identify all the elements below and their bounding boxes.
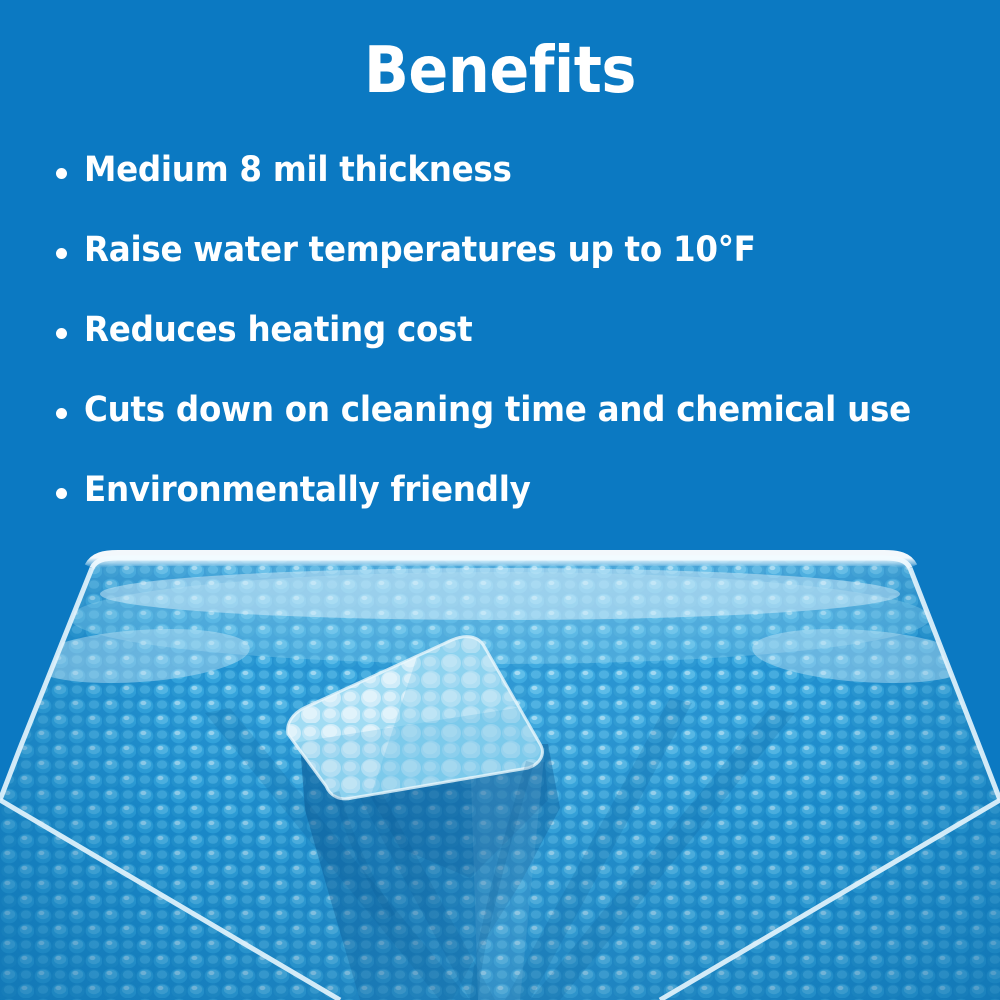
list-item: Reduces heating cost — [56, 312, 976, 392]
page-title: Benefits — [40, 38, 960, 105]
benefit-label: Medium 8 mil thickness — [84, 152, 512, 189]
benefits-list: Medium 8 mil thickness Raise water tempe… — [56, 152, 976, 552]
list-item: Cuts down on cleaning time and chemical … — [56, 392, 976, 472]
bullet-dot-icon — [56, 488, 67, 499]
list-item: Environmentally friendly — [56, 472, 976, 552]
benefit-label: Reduces heating cost — [84, 312, 472, 349]
list-item: Raise water temperatures up to 10°F — [56, 232, 976, 312]
benefit-label: Environmentally friendly — [84, 472, 531, 509]
bullet-dot-icon — [56, 168, 67, 179]
bullet-dot-icon — [56, 408, 67, 419]
list-item: Medium 8 mil thickness — [56, 152, 976, 232]
benefit-label: Cuts down on cleaning time and chemical … — [84, 392, 911, 429]
benefit-label: Raise water temperatures up to 10°F — [84, 232, 756, 269]
benefits-poster: Benefits Medium 8 mil thickness Raise wa… — [0, 0, 1000, 1000]
bullet-dot-icon — [56, 248, 67, 259]
bullet-dot-icon — [56, 328, 67, 339]
product-image-solar-pool-cover — [0, 548, 1000, 1000]
